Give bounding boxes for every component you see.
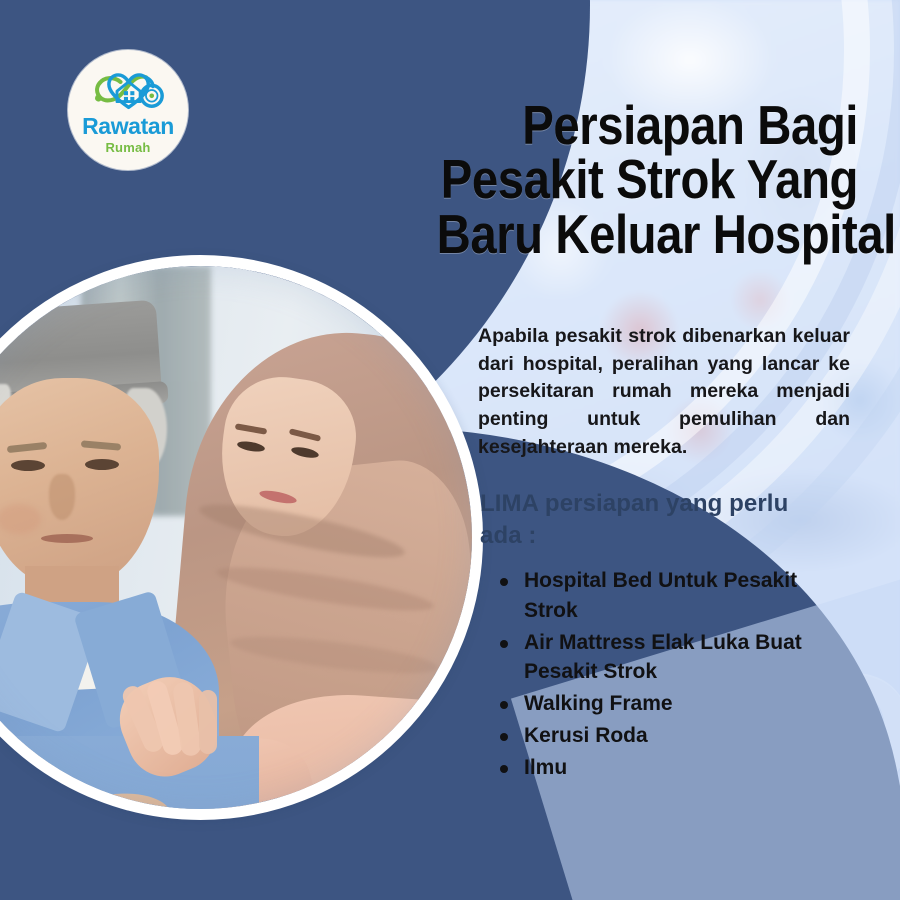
hero-photo-image (0, 266, 472, 809)
content-column: Persiapan Bagi Pesakit Strok Yang Baru K… (478, 0, 856, 900)
page-title-line-2: Pesakit Strok Yang (437, 152, 858, 206)
list-item: Air Mattress Elak Luka Buat Pesakit Stro… (492, 628, 852, 688)
page-title-line-1: Persiapan Bagi (437, 98, 858, 152)
list-item: Hospital Bed Untuk Pesakit Strok (492, 566, 852, 626)
brand-tagline: Rumah (105, 141, 150, 154)
section-heading-line-2: ada : (480, 522, 537, 549)
heart-house-stethoscope-icon (90, 68, 166, 112)
list-item: Ilmu (492, 753, 852, 783)
list-item: Kerusi Roda (492, 721, 852, 751)
preparation-list: Hospital Bed Untuk Pesakit Strok Air Mat… (492, 566, 852, 785)
hero-photo (0, 255, 483, 820)
page-title: Persiapan Bagi Pesakit Strok Yang Baru K… (437, 98, 858, 261)
intro-paragraph-tail: mereka. (614, 436, 688, 458)
poster-canvas: STRO Rawatan Rumah (0, 0, 900, 900)
intro-paragraph: Apabila pesakit strok dibenarkan keluar … (478, 323, 850, 461)
brand-logo: Rawatan Rumah (68, 50, 188, 170)
section-heading-line-1: LIMA persiapan yang perlu (480, 490, 788, 517)
list-item: Walking Frame (492, 689, 852, 719)
page-title-line-3: Baru Keluar Hospital (437, 207, 858, 261)
section-heading: LIMA persiapan yang perlu ada : (480, 488, 810, 552)
brand-name: Rawatan (82, 115, 174, 138)
